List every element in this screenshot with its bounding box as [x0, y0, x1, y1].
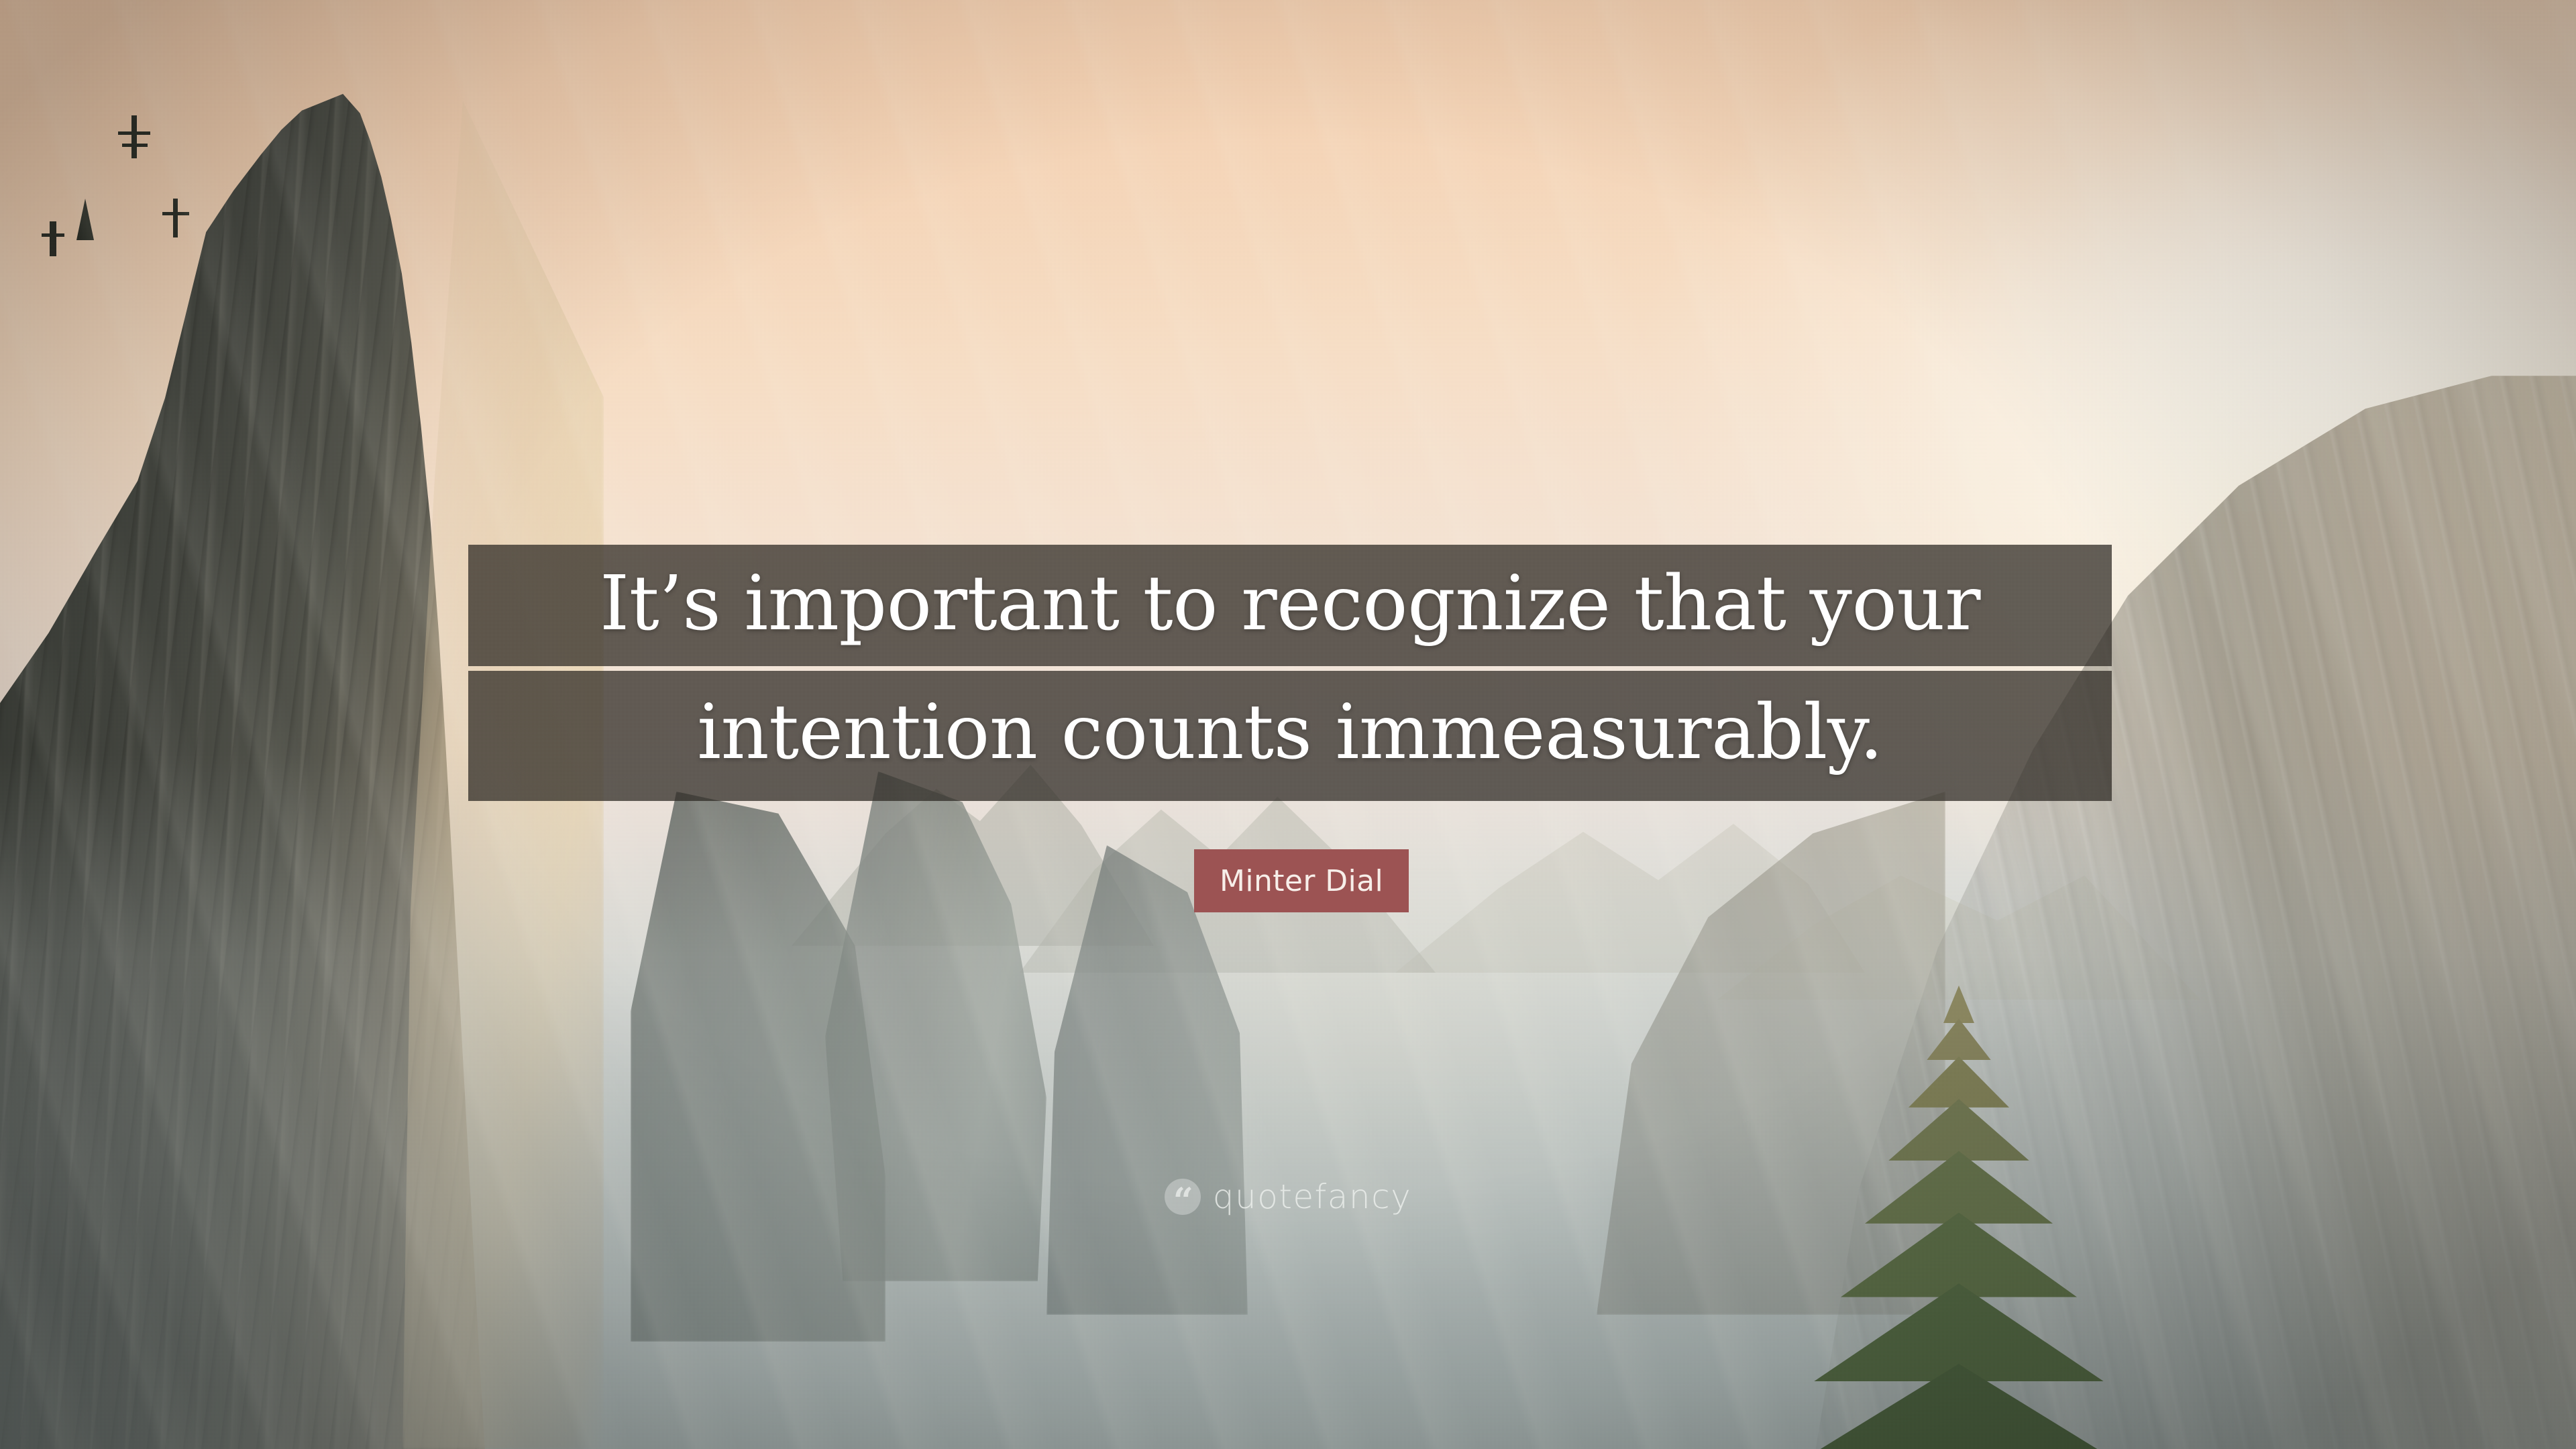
author-badge[interactable]: Minter Dial [1194, 849, 1409, 912]
quote-mark-icon: “ [1165, 1179, 1201, 1215]
quote-block: It’s important to recognize that your in… [468, 545, 2112, 801]
quotefancy-watermark[interactable]: “ quotefancy [0, 1177, 2576, 1216]
quote-image-canvas: It’s important to recognize that your in… [0, 0, 2576, 1449]
author-name: Minter Dial [1220, 864, 1383, 898]
quote-line-1: It’s important to recognize that your [468, 545, 2112, 666]
quote-band-divider [468, 666, 2112, 671]
quote-line-2: intention counts immeasurably. [468, 671, 2112, 801]
quotefancy-brand-text: quotefancy [1213, 1177, 1411, 1216]
